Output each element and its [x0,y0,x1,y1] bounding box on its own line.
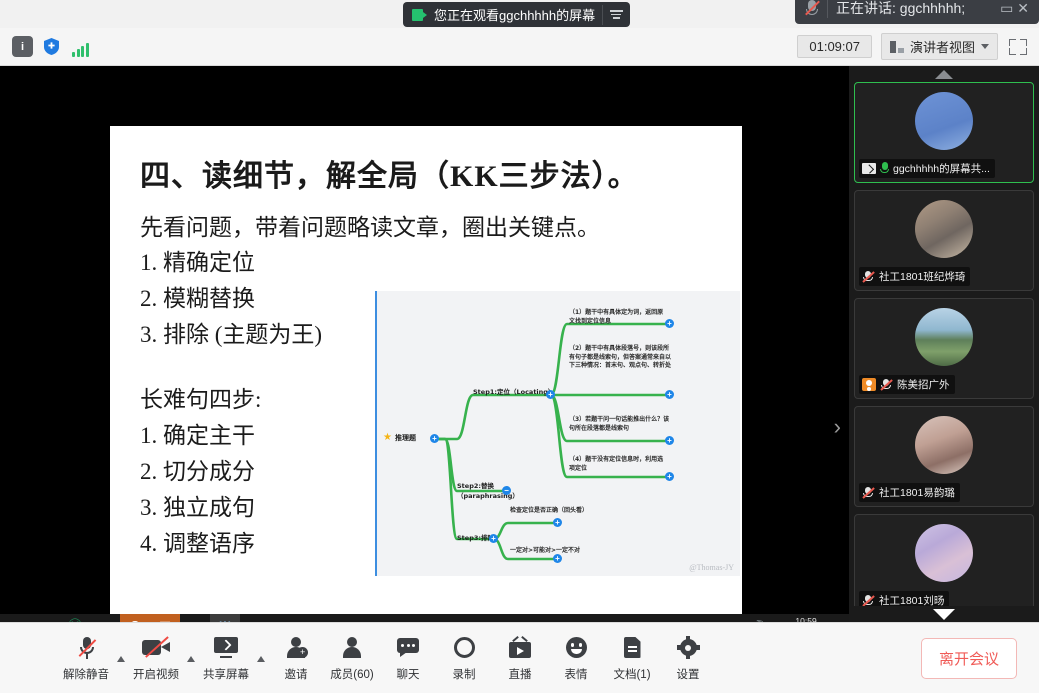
slide-next-arrow[interactable]: › [834,414,841,440]
taskbar-apps: ⊞ ◓ Ⓜ ● Q ▤ ▲▲ W [0,614,240,622]
participants-icon [342,635,362,661]
avatar [915,308,973,366]
mindmap-node-b2[interactable]: + [665,390,674,399]
view-mode-dropdown[interactable]: 演讲者视图 [881,33,998,60]
mindmap-node-b3[interactable]: + [665,436,674,445]
control-label-participants: 成员(60) [330,666,373,682]
participant-panel: ggchhhhh的屏幕共... 社工1801班纪烨琦 陈美招广外 社工1801易… [849,66,1039,622]
mindmap-branch-2: （2）题干中有具体段落号，则该段所有句子都是线索句，但答案通常来自以下三种情况：… [569,345,671,371]
mindmap-branch-3: （3）若题干问一句话能推出什么？该句所在段落都是线索句 [569,416,671,433]
widget-divider [827,0,828,18]
control-emoji[interactable]: 表情 [548,635,604,682]
meeting-toolbar-left: i [0,36,91,57]
shared-screen-content: 四、读细节，解全局（KK三步法）。 先看问题，带着问题略读文章，圈出关键点。 1… [0,126,849,622]
control-documents[interactable]: 文档(1) [604,635,660,682]
slide-list-a-item-2: 2. 模糊替换 [140,279,255,313]
slide-list-b-item-4: 4. 调整语序 [140,524,255,558]
slide-list-a-item-1: 1. 精确定位 [140,243,255,277]
participant-tile-2[interactable]: 陈美招广外 [854,298,1034,399]
slide-list-b-item-1: 1. 确定主干 [140,416,255,450]
mic-muted-icon [880,378,893,391]
chat-icon [397,635,419,661]
mic-muted-icon [862,486,875,499]
control-label-record: 录制 [453,666,476,682]
control-label-chat: 聊天 [397,666,420,682]
slide-heading-b: 长难句四步: [140,380,261,414]
speaker-view-icon [890,41,904,53]
control-label-share: 共享屏幕 [203,666,249,682]
mindmap-node-step2[interactable]: − [502,486,511,495]
mic-muted-icon [805,0,819,17]
control-label-documents: 文档(1) [613,666,650,682]
meeting-control-bar: 解除静音 开启视频 共享屏幕 + 邀请 成员(60) 聊天 录制 [0,622,1039,693]
mindmap-root-label: 推理题 [395,433,416,443]
browser-blue-icon[interactable]: ▲▲ [180,614,210,622]
camera-off-icon [142,635,170,661]
control-label-invite: 邀请 [285,666,308,682]
mindmap-step-1-label: Step1:定位（Locating） [473,386,554,396]
control-live[interactable]: 直播 [492,635,548,682]
mindmap-watermark: @Thomas-JY [689,563,734,572]
chevron-down-icon [981,44,989,49]
screen-share-badge-icon [862,163,876,174]
avatar [915,92,973,150]
mindmap-node-step3[interactable]: + [489,534,498,543]
edge-icon[interactable]: ◓ [30,614,60,622]
mindmap-root: ★ 推理题 [383,433,416,443]
presentation-slide: 四、读细节，解全局（KK三步法）。 先看问题，带着问题略读文章，圈出关键点。 1… [110,126,742,622]
share-screen-icon [214,635,238,661]
participant-name-0: ggchhhhh的屏幕共... [893,161,990,176]
excel-icon[interactable]: ▤ [150,614,180,622]
mindmap-node-root[interactable]: + [430,434,439,443]
control-mute-toggle[interactable]: 解除静音 [58,635,114,682]
video-options-caret-icon[interactable] [187,656,195,662]
mic-muted-icon [862,594,875,606]
participant-name-chip-4: 社工1801刘旸 [859,591,949,606]
mindmap-node-b1[interactable]: + [665,319,674,328]
mindmap-node-step1[interactable]: + [546,390,555,399]
participant-tile-0[interactable]: ggchhhhh的屏幕共... [854,82,1034,183]
slide-list-a-item-3: 3. 排除 (主题为王) [140,315,322,349]
control-settings[interactable]: 设置 [660,635,716,682]
info-glyph: i [21,41,24,53]
widget-window-controls[interactable]: ▭ ✕ [1000,0,1029,17]
mic-muted-icon [862,270,875,283]
participant-name-chip-3: 社工1801易韵璐 [859,483,960,502]
participant-tile-3[interactable]: 社工1801易韵璐 [854,406,1034,507]
control-share-screen[interactable]: 共享屏幕 [198,635,254,682]
wps-icon[interactable]: W [210,614,240,622]
avatar [915,200,973,258]
control-label-live: 直播 [509,666,532,682]
view-mode-label: 演讲者视图 [910,37,975,56]
info-icon[interactable]: i [12,36,33,57]
document-icon [624,635,641,661]
participant-name-4: 社工1801刘旸 [879,593,944,606]
windows-taskbar: ⊞ ◓ Ⓜ ● Q ▤ ▲▲ W ⌃ ◉ ◤ 🔊 中 10:59 2021/7/… [0,614,849,622]
watching-banner-label: 您正在观看ggchhhhh的屏幕 [434,5,595,24]
watching-screen-banner[interactable]: 您正在观看ggchhhhh的屏幕 [403,2,630,27]
slide-list-b-item-2: 2. 切分成分 [140,452,255,486]
wechat-icon[interactable]: ● [90,614,120,622]
shared-screen-stage: 四、读细节，解全局（KK三步法）。 先看问题，带着问题略读文章，圈出关键点。 1… [0,66,849,622]
mute-options-caret-icon[interactable] [117,656,125,662]
participant-name-1: 社工1801班纪烨琦 [879,269,965,284]
meeting-timer: 01:09:07 [797,35,872,58]
invite-icon: + [286,635,306,661]
screen-share-icon [412,9,427,21]
speaking-now-widget[interactable]: 正在讲话: ggchhhhh; ▭ ✕ [795,0,1039,24]
slide-title: 四、读细节，解全局（KK三步法）。 [140,151,639,195]
mindmap-node-b6[interactable]: + [553,554,562,563]
participant-name-chip-2: 陈美招广外 [859,375,955,394]
participant-name-2: 陈美招广外 [897,377,950,392]
mic-muted-icon [78,635,95,661]
participant-name-chip-1: 社工1801班纪烨琦 [859,267,970,286]
mindmap-branch-1: （1）题干中有具体定为词，返回原文找到定位信息 [569,309,669,326]
mindmap-figure: ★ 推理题 + Step1:定位（Locating） + Step2:替换 （p… [375,291,740,576]
banner-menu-icon[interactable] [602,5,624,25]
control-items: 解除静音 开启视频 共享屏幕 + 邀请 成员(60) 聊天 录制 [0,635,716,682]
share-options-caret-icon[interactable] [257,656,265,662]
meeting-toolbar: i 01:09:07 演讲者视图 [0,28,1039,66]
control-label-video: 开启视频 [133,666,179,682]
scroll-down-arrow[interactable] [849,606,1039,622]
app-green-icon[interactable]: Ⓜ [60,614,90,622]
participant-name-chip-0: ggchhhhh的屏幕共... [859,159,995,178]
control-label-mute: 解除静音 [63,666,109,682]
emoji-icon [566,635,587,661]
slide-list-b-item-3: 3. 独立成句 [140,488,255,522]
participant-tile-1[interactable]: 社工1801班纪烨琦 [854,190,1034,291]
mic-on-icon [880,162,889,175]
shield-icon[interactable] [41,36,62,57]
speaking-now-label: 正在讲话: ggchhhhh; [836,0,992,18]
control-invite[interactable]: + 邀请 [268,635,324,682]
mindmap-node-b4[interactable]: + [665,472,674,481]
slide-subtitle: 先看问题，带着问题略读文章，圈出关键点。 [140,208,600,242]
settings-gear-icon [678,635,699,661]
mindmap-node-b5[interactable]: + [553,518,562,527]
control-label-emoji: 表情 [565,666,588,682]
host-badge-icon [862,378,876,391]
star-icon: ★ [383,433,392,443]
leave-meeting-button[interactable]: 离开会议 [921,638,1017,679]
participant-tile-4[interactable]: 社工1801刘旸 [854,514,1034,606]
control-label-settings: 设置 [677,666,700,682]
start-button[interactable]: ⊞ [0,614,30,622]
control-chat[interactable]: 聊天 [380,635,436,682]
participant-name-3: 社工1801易韵璐 [879,485,955,500]
control-record[interactable]: 录制 [436,635,492,682]
control-participants[interactable]: 成员(60) [324,635,380,682]
fullscreen-icon[interactable] [1007,37,1029,57]
mindmap-branch-4: （4）题干没有定位信息时，利用选项定位 [569,456,669,473]
meeting-toolbar-right: 01:09:07 演讲者视图 [797,33,1039,60]
record-icon [454,635,475,661]
avatar [915,524,973,582]
avatar [915,416,973,474]
mindmap-branch-5: 检查定位是否正确（回头看） [510,507,602,516]
scroll-up-arrow[interactable] [849,66,1039,82]
live-icon [509,635,531,661]
participant-tiles: ggchhhhh的屏幕共... 社工1801班纪烨琦 陈美招广外 社工1801易… [849,82,1039,606]
tencent-meeting-icon[interactable]: Q [120,614,150,622]
control-video-toggle[interactable]: 开启视频 [128,635,184,682]
signal-bars-icon[interactable] [70,36,91,57]
